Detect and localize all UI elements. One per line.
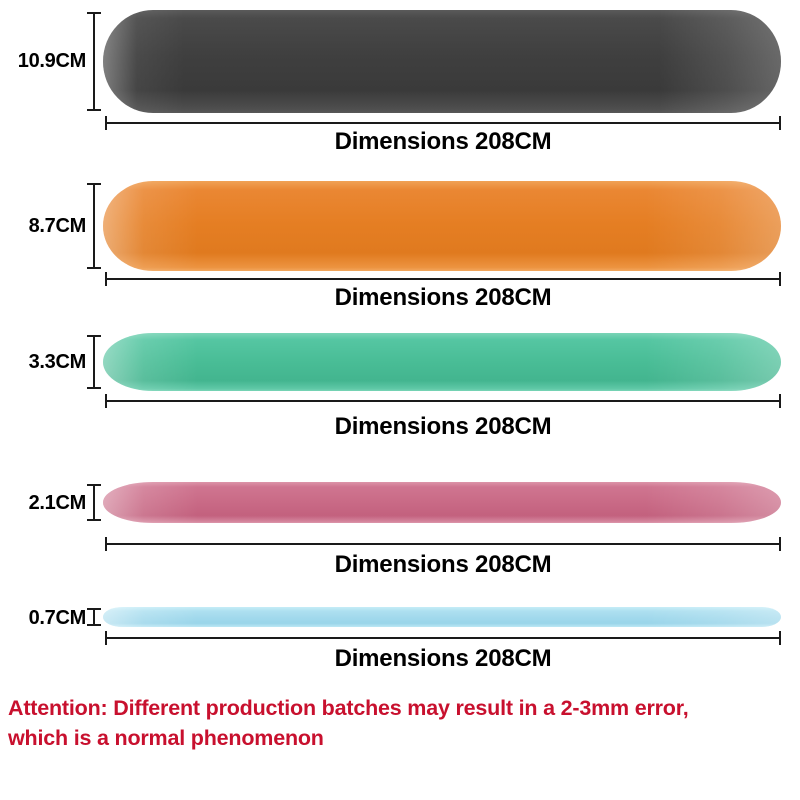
height-label-blue: 0.7CM: [0, 607, 86, 630]
band-orange: [103, 181, 781, 271]
dimension-chart-page: 10.9CM Dimensions 208CM 8.7CM Dimensions…: [0, 0, 800, 800]
dimension-cap-right: [779, 537, 781, 551]
band-gloss-blue: [103, 607, 781, 627]
length-dimension-line-orange: [105, 278, 781, 280]
length-dimension-line-green: [105, 400, 781, 402]
length-label-black: Dimensions 208CM: [105, 128, 781, 156]
dimension-cap-right: [779, 394, 781, 408]
band-black: [103, 10, 781, 113]
attention-line-1: Attention: Different production batches …: [8, 694, 792, 724]
band-gloss-pink: [103, 482, 781, 523]
band-pink: [103, 482, 781, 523]
dimension-cap-left: [105, 394, 107, 408]
height-label-green: 3.3CM: [0, 351, 86, 374]
dimension-cap-bottom: [87, 387, 101, 389]
dimension-cap-bottom: [87, 624, 101, 626]
band-gloss-green: [103, 333, 781, 391]
height-label-orange: 8.7CM: [0, 215, 86, 238]
attention-line-2: which is a normal phenomenon: [8, 724, 792, 754]
length-dimension-line-pink: [105, 543, 781, 545]
length-dimension-line-blue: [105, 637, 781, 639]
dimension-cap-top: [87, 12, 101, 14]
dimension-cap-left: [105, 631, 107, 645]
height-dimension-line-black: [93, 12, 95, 111]
dimension-cap-bottom: [87, 267, 101, 269]
band-gloss-orange: [103, 181, 781, 271]
dimension-cap-top: [87, 335, 101, 337]
length-label-blue: Dimensions 208CM: [105, 645, 781, 673]
dimension-cap-top: [87, 183, 101, 185]
band-green: [103, 333, 781, 391]
length-label-green: Dimensions 208CM: [105, 413, 781, 441]
dimension-cap-bottom: [87, 519, 101, 521]
dimension-cap-left: [105, 537, 107, 551]
band-blue: [103, 607, 781, 627]
height-dimension-line-blue: [93, 608, 95, 626]
length-label-pink: Dimensions 208CM: [105, 551, 781, 579]
dimension-cap-top: [87, 484, 101, 486]
height-label-black: 10.9CM: [0, 50, 86, 73]
dimension-cap-right: [779, 631, 781, 645]
band-gloss-black: [103, 10, 781, 113]
dimension-cap-bottom: [87, 109, 101, 111]
height-dimension-line-pink: [93, 484, 95, 521]
length-dimension-line-black: [105, 122, 781, 124]
height-label-pink: 2.1CM: [0, 492, 86, 515]
length-label-orange: Dimensions 208CM: [105, 284, 781, 312]
attention-note: Attention: Different production batches …: [8, 694, 792, 753]
dimension-cap-top: [87, 608, 101, 610]
height-dimension-line-orange: [93, 183, 95, 269]
height-dimension-line-green: [93, 335, 95, 389]
